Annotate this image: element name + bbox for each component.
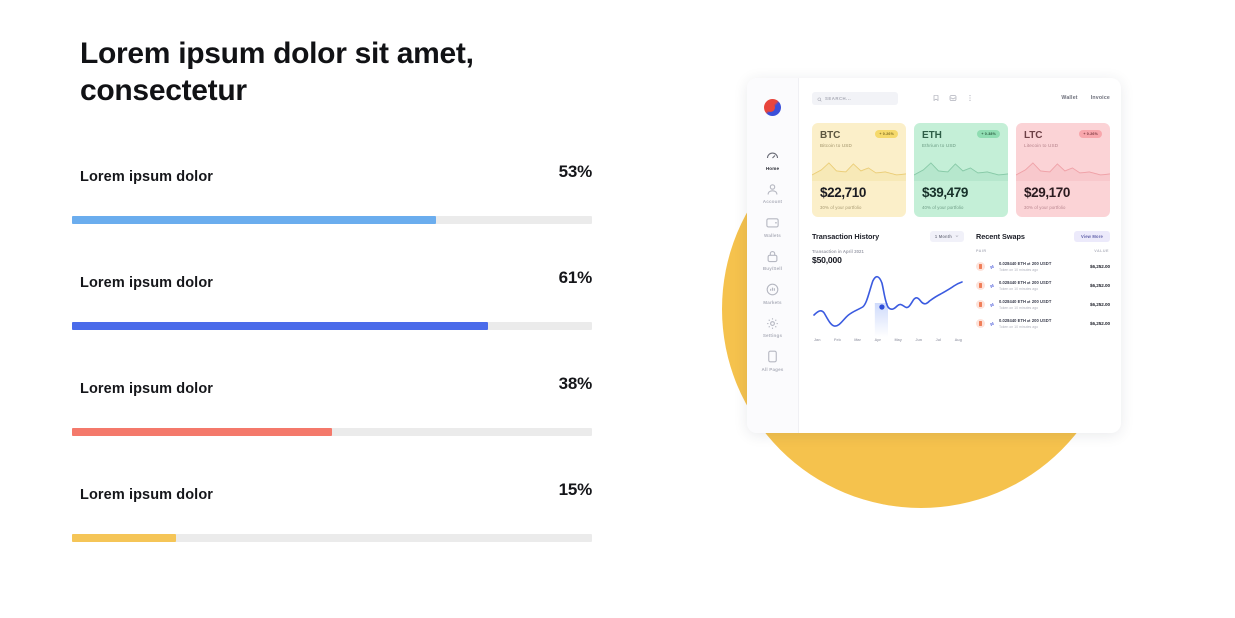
swap-value: $6,252.00: [1090, 283, 1110, 288]
dashboard-topbar: SEARCH... Wallet Invoice: [812, 89, 1110, 107]
search-icon: [817, 89, 822, 107]
swap-arrows-icon: [989, 283, 995, 289]
coin-card-header: LTC + 0.26%: [1024, 130, 1102, 141]
transaction-subtitle: Transaction in April 2021: [812, 249, 964, 254]
progress-bar-track: [72, 534, 592, 542]
progress-bar-item: Lorem ipsum dolor 61%: [72, 268, 592, 374]
wallet-icon: [765, 215, 780, 230]
progress-bar-fill: [72, 216, 436, 224]
coin-change-badge: + 0.26%: [875, 130, 898, 138]
progress-bar-item: Lorem ipsum dolor 15%: [72, 480, 592, 586]
dashboard-main: SEARCH... Wallet Invoice: [799, 78, 1121, 433]
progress-bar-label: Lorem ipsum dolor: [72, 268, 213, 291]
coin-price: $29,170: [1024, 185, 1070, 200]
swap-timestamp: Token on 10 minutes ago: [999, 306, 1086, 310]
swap-pair: 0.028440 ETH ⇄ 200 USDT: [999, 318, 1086, 323]
gauge-icon: [765, 148, 780, 163]
axis-tick: Apr: [874, 338, 881, 342]
dashboard-sidebar: Home Account Wallets Buy/Sell: [747, 78, 799, 433]
coin-card-eth[interactable]: ETH + 0.38% Ethrium to USD $39,479 40% o…: [914, 123, 1008, 217]
coin-symbol: BTC: [820, 130, 840, 141]
coin-price: $39,479: [922, 185, 968, 200]
axis-tick: Jul: [936, 338, 942, 342]
sidebar-item-wallets[interactable]: Wallets: [747, 215, 798, 238]
coin-change-badge: + 0.26%: [1079, 130, 1102, 138]
wallet-link[interactable]: Wallet: [1061, 95, 1077, 101]
coin-change-badge: + 0.38%: [977, 130, 1000, 138]
bookmark-icon[interactable]: [932, 94, 940, 102]
swap-body: 0.028440 ETH ⇄ 200 USDT Token on 10 minu…: [999, 261, 1086, 271]
token-avatar: [976, 262, 985, 271]
progress-bar-fill: [72, 428, 332, 436]
slide-root: Lorem ipsum dolor sit amet, consectetur …: [0, 0, 1235, 618]
progress-bar-percent: 38%: [559, 374, 592, 394]
transaction-chart-axis: Jan Feb Mar Apr May Jun Jul Aug: [812, 338, 964, 342]
sidebar-item-account[interactable]: Account: [747, 182, 798, 205]
dashboard-mockup: Home Account Wallets Buy/Sell: [747, 78, 1121, 433]
page-title: Lorem ipsum dolor sit amet, consectetur: [80, 36, 540, 109]
coin-symbol: LTC: [1024, 130, 1042, 141]
coin-card-header: BTC + 0.26%: [820, 130, 898, 141]
gear-icon: [765, 316, 780, 331]
progress-bar-label: Lorem ipsum dolor: [72, 480, 213, 503]
axis-tick: Feb: [834, 338, 841, 342]
token-avatar: [976, 300, 985, 309]
topbar-links: Wallet Invoice: [1061, 95, 1110, 101]
search-placeholder: SEARCH...: [825, 96, 851, 101]
swap-row[interactable]: 0.028440 ETH ⇄ 200 USDT Token on 10 minu…: [976, 276, 1110, 295]
coin-card-header: ETH + 0.38%: [922, 130, 1000, 141]
swap-row[interactable]: 0.028440 ETH ⇄ 200 USDT Token on 10 minu…: [976, 295, 1110, 314]
swap-pair: 0.028440 ETH ⇄ 200 USDT: [999, 261, 1086, 266]
inbox-icon[interactable]: [949, 94, 957, 102]
swap-body: 0.028440 ETH ⇄ 200 USDT Token on 10 minu…: [999, 280, 1086, 290]
progress-bar-header: Lorem ipsum dolor 15%: [72, 480, 592, 510]
progress-bar-percent: 15%: [559, 480, 592, 500]
coin-sparkline: [914, 155, 1008, 181]
search-input[interactable]: SEARCH...: [812, 92, 898, 105]
token-avatar: [976, 319, 985, 328]
coin-subtitle: Litecoin to USD: [1024, 143, 1102, 148]
coin-sparkline: [1016, 155, 1110, 181]
progress-bar-item: Lorem ipsum dolor 38%: [72, 374, 592, 480]
column-header-pair: PAIR: [976, 249, 987, 253]
progress-bar-label: Lorem ipsum dolor: [72, 374, 213, 397]
panel-title: Transaction History: [812, 232, 879, 241]
sidebar-label: Buy/Sell: [763, 266, 782, 271]
progress-bar-list: Lorem ipsum dolor 53% Lorem ipsum dolor …: [72, 162, 592, 586]
swaps-column-headers: PAIR VALUE: [976, 249, 1110, 253]
sidebar-label: Home: [766, 166, 779, 171]
axis-tick: Aug: [955, 338, 962, 342]
progress-bar-header: Lorem ipsum dolor 38%: [72, 374, 592, 404]
swap-pair: 0.028440 ETH ⇄ 200 USDT: [999, 299, 1086, 304]
swap-row[interactable]: 0.028440 ETH ⇄ 200 USDT Token on 10 minu…: [976, 314, 1110, 333]
progress-bar-fill: [72, 322, 488, 330]
coin-card-ltc[interactable]: LTC + 0.26% Litecoin to USD $29,170 30% …: [1016, 123, 1110, 217]
coin-portfolio-note: 30% of your portfolio: [820, 205, 862, 210]
swap-body: 0.028440 ETH ⇄ 200 USDT Token on 10 minu…: [999, 299, 1086, 309]
sidebar-label: Markets: [763, 300, 781, 305]
coin-card-btc[interactable]: BTC + 0.26% Bitcoin to USD $22,710 30% o…: [812, 123, 906, 217]
sidebar-item-buy-sell[interactable]: Buy/Sell: [747, 249, 798, 272]
panel-header: Transaction History 1 Month: [812, 231, 964, 242]
coin-subtitle: Bitcoin to USD: [820, 143, 898, 148]
chart-icon: [765, 282, 780, 297]
dashboard-bottom-section: Transaction History 1 Month Transaction …: [812, 231, 1110, 342]
swap-arrows-icon: [989, 264, 995, 270]
swap-timestamp: Token on 10 minutes ago: [999, 268, 1086, 272]
progress-bar-label: Lorem ipsum dolor: [72, 162, 213, 185]
progress-bar-header: Lorem ipsum dolor 53%: [72, 162, 592, 192]
coin-portfolio-note: 40% of your portfolio: [922, 205, 964, 210]
swap-value: $6,252.00: [1090, 321, 1110, 326]
app-logo-icon: [764, 99, 781, 116]
sidebar-item-markets[interactable]: Markets: [747, 282, 798, 305]
recent-swaps-panel: Recent Swaps View More PAIR VALUE 0.0: [976, 231, 1110, 342]
range-label: 1 Month: [935, 234, 952, 239]
progress-bar-fill: [72, 534, 176, 542]
progress-bar-percent: 53%: [559, 162, 592, 182]
transaction-history-panel: Transaction History 1 Month Transaction …: [812, 231, 964, 342]
swap-value: $6,252.00: [1090, 264, 1110, 269]
sidebar-label: Settings: [763, 333, 782, 338]
sidebar-item-settings[interactable]: Settings: [747, 316, 798, 339]
swap-value: $6,252.00: [1090, 302, 1110, 307]
progress-bar-track: [72, 216, 592, 224]
progress-bar-track: [72, 428, 592, 436]
swap-timestamp: Token on 10 minutes ago: [999, 325, 1086, 329]
axis-tick: May: [895, 338, 902, 342]
sidebar-label: All Pages: [761, 367, 783, 372]
coin-price: $22,710: [820, 185, 866, 200]
swap-body: 0.028440 ETH ⇄ 200 USDT Token on 10 minu…: [999, 318, 1086, 328]
coin-card-list: BTC + 0.26% Bitcoin to USD $22,710 30% o…: [812, 123, 1110, 217]
chevron-down-icon: [955, 234, 959, 239]
more-vertical-icon[interactable]: [966, 94, 974, 102]
transaction-amount: $50,000: [812, 255, 964, 265]
lock-icon: [765, 249, 780, 264]
transaction-line-chart: [812, 269, 964, 337]
swap-arrows-icon: [989, 302, 995, 308]
left-content-panel: Lorem ipsum dolor sit amet, consectetur: [80, 36, 595, 109]
view-more-button[interactable]: View More: [1074, 231, 1110, 242]
coin-sparkline: [812, 155, 906, 181]
coin-portfolio-note: 30% of your portfolio: [1024, 205, 1066, 210]
range-select[interactable]: 1 Month: [930, 231, 964, 242]
progress-bar-track: [72, 322, 592, 330]
invoice-link[interactable]: Invoice: [1091, 95, 1110, 101]
user-icon: [765, 182, 780, 197]
swap-arrows-icon: [989, 321, 995, 327]
axis-tick: Jan: [814, 338, 821, 342]
topbar-icon-group: [932, 94, 974, 102]
sidebar-label: Account: [763, 199, 782, 204]
progress-bar-header: Lorem ipsum dolor 61%: [72, 268, 592, 298]
column-header-value: VALUE: [1094, 249, 1109, 253]
panel-title: Recent Swaps: [976, 232, 1025, 241]
swap-row[interactable]: 0.028440 ETH ⇄ 200 USDT Token on 10 minu…: [976, 257, 1110, 276]
swap-timestamp: Token on 10 minutes ago: [999, 287, 1086, 291]
page-icon: [765, 349, 780, 364]
sidebar-item-home[interactable]: Home: [747, 148, 798, 171]
sidebar-label: Wallets: [764, 233, 781, 238]
panel-header: Recent Swaps View More: [976, 231, 1110, 242]
axis-tick: Jun: [915, 338, 922, 342]
progress-bar-item: Lorem ipsum dolor 53%: [72, 162, 592, 268]
axis-tick: Mar: [854, 338, 861, 342]
swap-pair: 0.028440 ETH ⇄ 200 USDT: [999, 280, 1086, 285]
progress-bar-percent: 61%: [559, 268, 592, 288]
sidebar-item-all-pages[interactable]: All Pages: [747, 349, 798, 372]
token-avatar: [976, 281, 985, 290]
coin-subtitle: Ethrium to USD: [922, 143, 1000, 148]
coin-symbol: ETH: [922, 130, 942, 141]
